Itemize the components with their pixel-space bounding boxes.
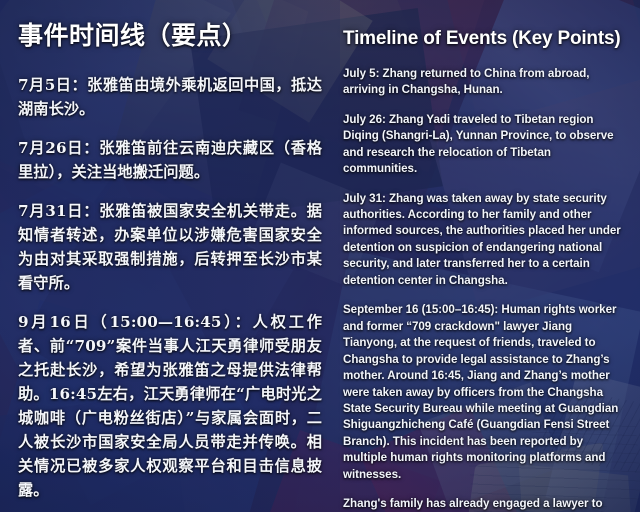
- slide-canvas: 事件时间线（要点） 7月5日：张雅笛由境外乘机返回中国，抵达湖南长沙。 7月26…: [0, 0, 640, 512]
- english-paragraph-2: July 26: Zhang Yadi traveled to Tibetan …: [343, 112, 628, 178]
- english-paragraph-1: July 5: Zhang returned to China from abr…: [343, 66, 628, 99]
- english-column: Timeline of Events (Key Points) July 5: …: [338, 0, 640, 512]
- english-paragraph-3: July 31: Zhang was taken away by state s…: [343, 191, 628, 290]
- english-paragraph-5: Zhang's family has already engaged a law…: [343, 496, 628, 512]
- english-title: Timeline of Events (Key Points): [343, 28, 628, 50]
- slide-content: 事件时间线（要点） 7月5日：张雅笛由境外乘机返回中国，抵达湖南长沙。 7月26…: [0, 0, 640, 512]
- chinese-column: 事件时间线（要点） 7月5日：张雅笛由境外乘机返回中国，抵达湖南长沙。 7月26…: [0, 0, 338, 512]
- chinese-paragraph-3: 7月31日：张雅笛被国家安全机关带走。据知情者转述，办案单位以涉嫌危害国家安全为…: [18, 199, 322, 295]
- chinese-paragraph-4: 9月16日（15:00—16:45）：人权工作者、前“709”案件当事人江天勇律…: [18, 310, 322, 502]
- chinese-title: 事件时间线（要点）: [18, 22, 322, 51]
- chinese-paragraph-1: 7月5日：张雅笛由境外乘机返回中国，抵达湖南长沙。: [18, 73, 322, 121]
- english-paragraph-4: September 16 (15:00–16:45): Human rights…: [343, 302, 628, 483]
- chinese-paragraph-2: 7月26日：张雅笛前往云南迪庆藏区（香格里拉），关注当地搬迁问题。: [18, 136, 322, 184]
